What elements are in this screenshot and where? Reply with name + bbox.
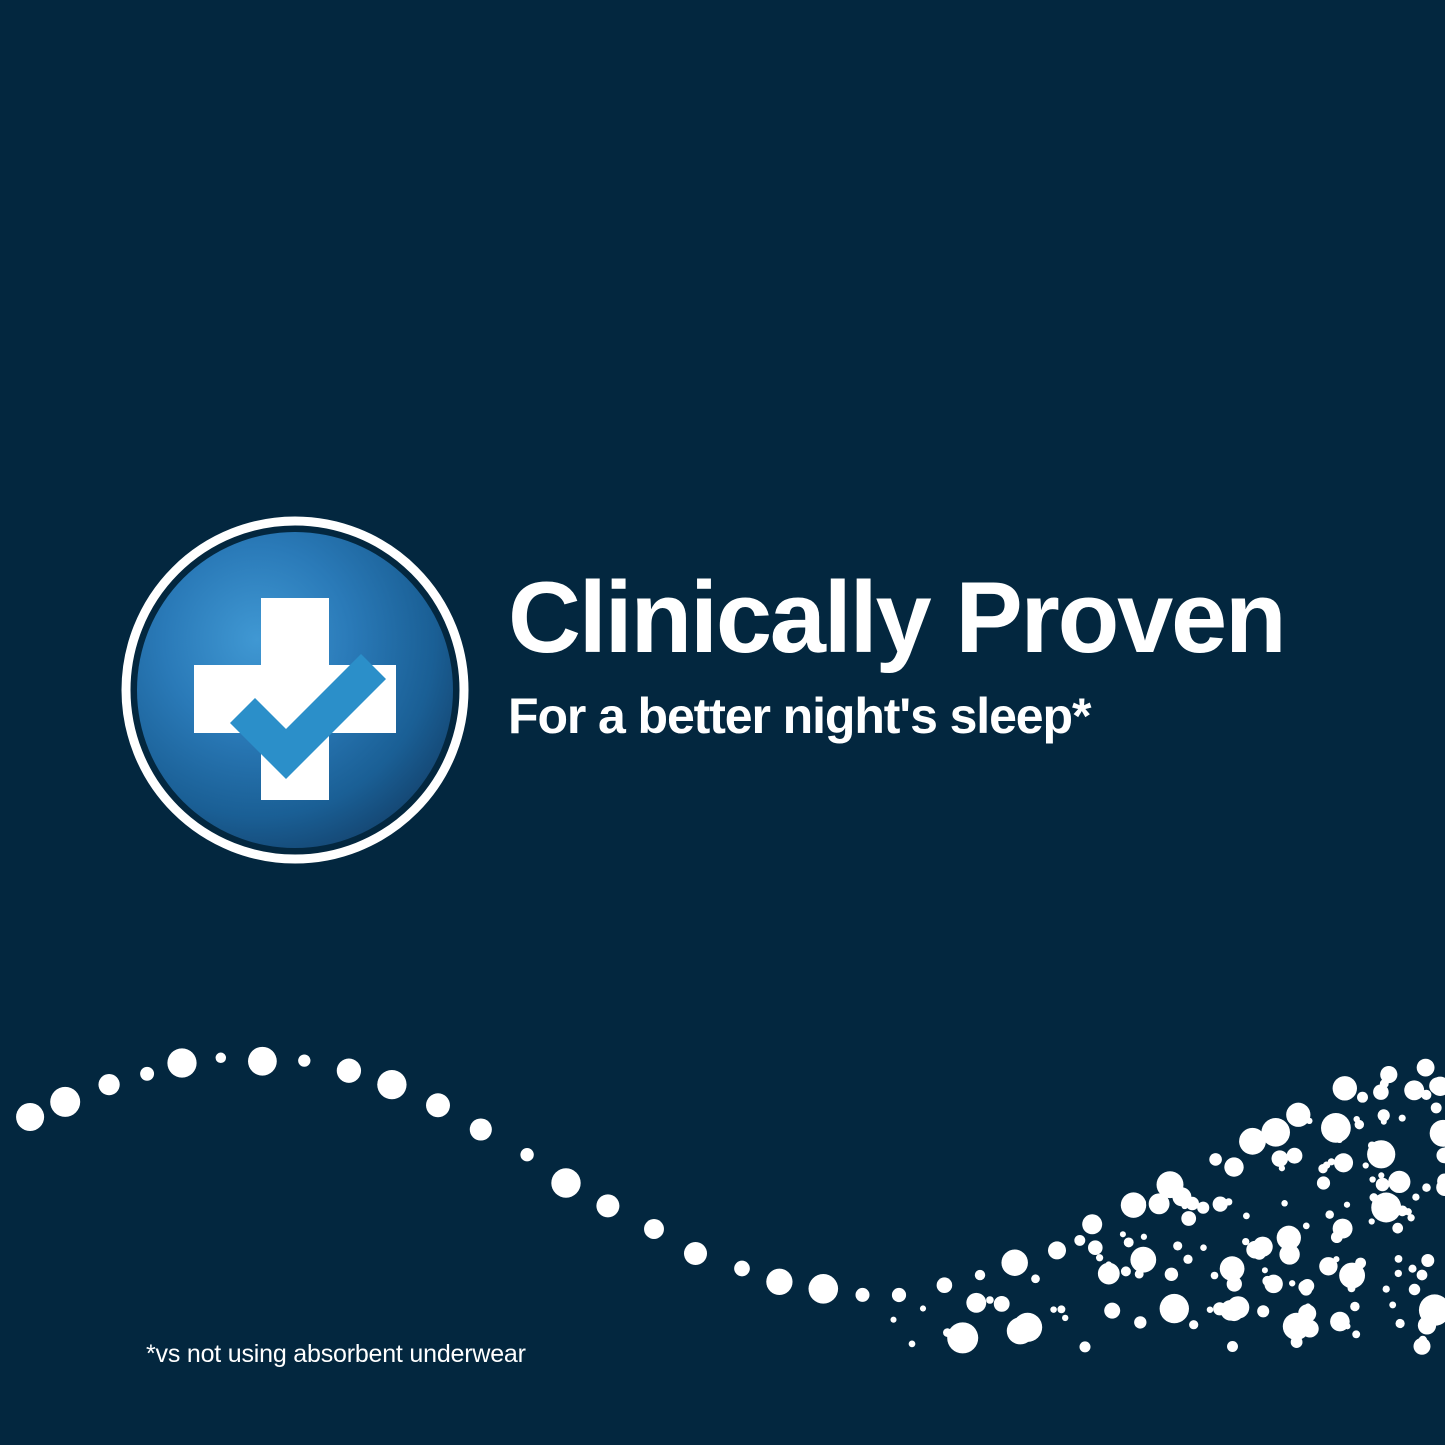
promo-graphic: Clinically Proven For a better night's s…: [0, 0, 1445, 1445]
subtitle: For a better night's sleep*: [508, 669, 1408, 741]
footnote-disclaimer: *vs not using absorbent underwear: [146, 1340, 526, 1369]
clinically-proven-badge: [118, 513, 472, 867]
medical-cross-checkmark-icon: [118, 513, 472, 867]
headline-block: Clinically Proven For a better night's s…: [508, 568, 1408, 741]
page-title: Clinically Proven: [508, 568, 1408, 669]
